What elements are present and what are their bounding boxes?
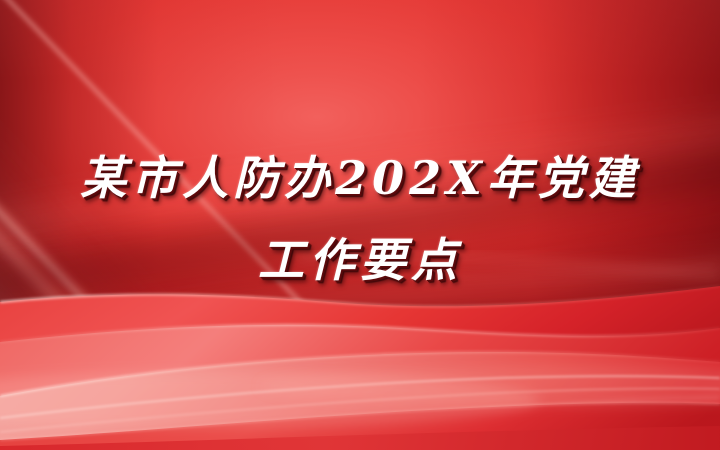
title-line-2: 工作要点 (0, 230, 720, 290)
title-line-1: 某市人防办202X年党建 (0, 148, 720, 208)
title-block: 某市人防办202X年党建 工作要点 (0, 148, 720, 290)
title-slide: 某市人防办202X年党建 工作要点 (0, 0, 720, 450)
